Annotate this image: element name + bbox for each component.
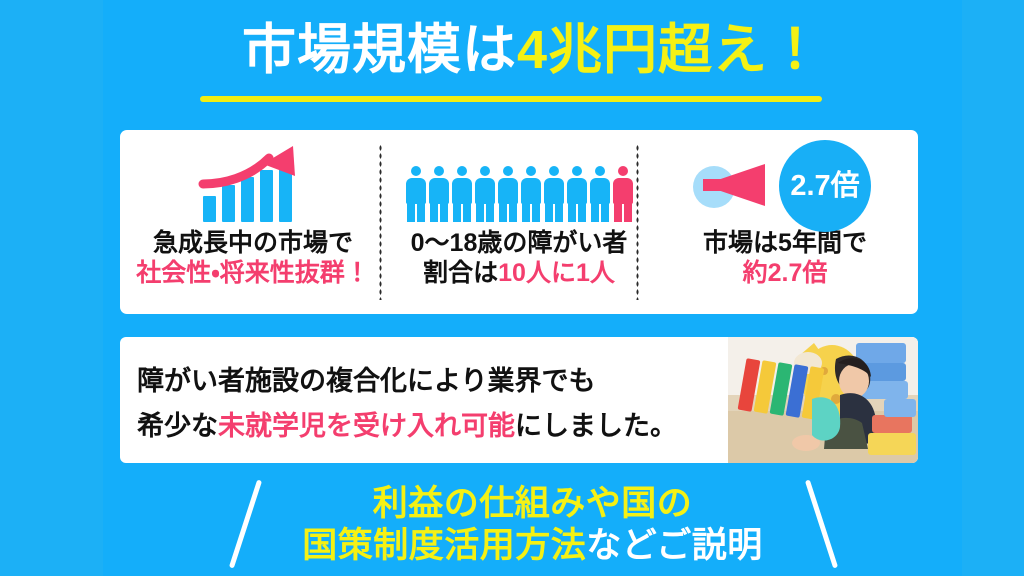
person-icon-2 xyxy=(429,166,449,222)
title-underline xyxy=(200,96,822,102)
stat-panel-2-line2-highlight: 10人に1人 xyxy=(498,259,615,287)
growth-multiplier-icon: 2.7倍 xyxy=(685,142,885,222)
multiplier-label: 2.7倍 xyxy=(790,172,859,201)
statement-line2-highlight: 未就学児を受け入れ可能 xyxy=(218,411,515,441)
page-title-plain: 市場規模は xyxy=(242,20,517,80)
cta-line-1-text: 利益の仕組みや国の xyxy=(373,484,693,523)
cta-line-1: 利益の仕組みや国の xyxy=(103,482,962,526)
stat-panel-2-line2-prefix: 割合は xyxy=(423,259,498,287)
people-ratio-icon xyxy=(406,142,633,222)
person-icon-7 xyxy=(544,166,564,222)
statement-line2: 希少な未就学児を受け入れ可能にしました。 xyxy=(137,404,677,449)
infographic-slide: 市場規模は4兆円超え！ 急 xyxy=(0,0,1024,576)
stat-panel-disability-ratio: 0〜18歳の障がい者 割合は10人に1人 xyxy=(386,130,652,314)
statement-line2-suffix: にしました。 xyxy=(515,411,677,441)
statement-text: 障がい者施設の複合化により業界でも 希少な未就学児を受け入れ可能にしました。 xyxy=(137,359,677,449)
headline-block: 市場規模は4兆円超え！ xyxy=(103,14,962,100)
left-background-band xyxy=(0,0,103,576)
stat-panel-3-text: 市場は5年間で 約2.7倍 xyxy=(703,228,867,288)
stat-panel-3-line2: 約2.7倍 xyxy=(703,258,867,288)
person-icon-8 xyxy=(567,166,587,222)
stat-panel-2-line2: 割合は10人に1人 xyxy=(411,258,628,288)
big-circle-after: 2.7倍 xyxy=(779,140,871,232)
cta-block: 利益の仕組みや国の 国策制度活用方法などご説明 xyxy=(103,470,962,576)
stat-panel-1-line2: 社会性・将来性抜群！ xyxy=(136,258,370,288)
person-icon-1 xyxy=(406,166,426,222)
stat-panel-3-line1: 市場は5年間で xyxy=(703,228,867,258)
rising-arrow-icon xyxy=(197,144,309,222)
cta-line-2: 国策制度活用方法などご説明 xyxy=(103,524,962,568)
cta-line-2-highlight: 国策制度活用方法 xyxy=(302,526,586,565)
stats-card: 急成長中の市場で 社会性・将来性抜群！ xyxy=(120,130,918,314)
statement-line1: 障がい者施設の複合化により業界でも xyxy=(137,359,677,404)
page-title-highlight: 4兆円超え！ xyxy=(517,20,823,80)
stat-panel-1-text: 急成長中の市場で 社会性・将来性抜群！ xyxy=(136,228,370,288)
person-icon-9 xyxy=(590,166,610,222)
statement-card: 障がい者施設の複合化により業界でも 希少な未就学児を受け入れ可能にしました。 xyxy=(120,337,918,463)
stat-panel-1-line1: 急成長中の市場で xyxy=(136,228,370,258)
person-icon-4 xyxy=(475,166,495,222)
stat-panel-market-multiplier: 2.7倍 市場は5年間で 約2.7倍 xyxy=(652,130,918,314)
bar-chart-growth-icon xyxy=(197,142,309,222)
child-playroom-photo xyxy=(728,337,918,463)
person-icon-10-highlighted xyxy=(613,166,633,222)
page-title: 市場規模は4兆円超え！ xyxy=(103,18,962,82)
stat-panel-market-growth: 急成長中の市場で 社会性・将来性抜群！ xyxy=(120,130,386,314)
right-background-band xyxy=(962,0,1024,576)
person-icon-6 xyxy=(521,166,541,222)
stat-panel-2-text: 0〜18歳の障がい者 割合は10人に1人 xyxy=(411,228,628,288)
person-icon-3 xyxy=(452,166,472,222)
cta-line-2-plain: などご説明 xyxy=(586,526,762,565)
statement-line2-prefix: 希少な xyxy=(137,411,218,441)
person-icon-5 xyxy=(498,166,518,222)
stat-panel-2-line1: 0〜18歳の障がい者 xyxy=(411,228,628,258)
